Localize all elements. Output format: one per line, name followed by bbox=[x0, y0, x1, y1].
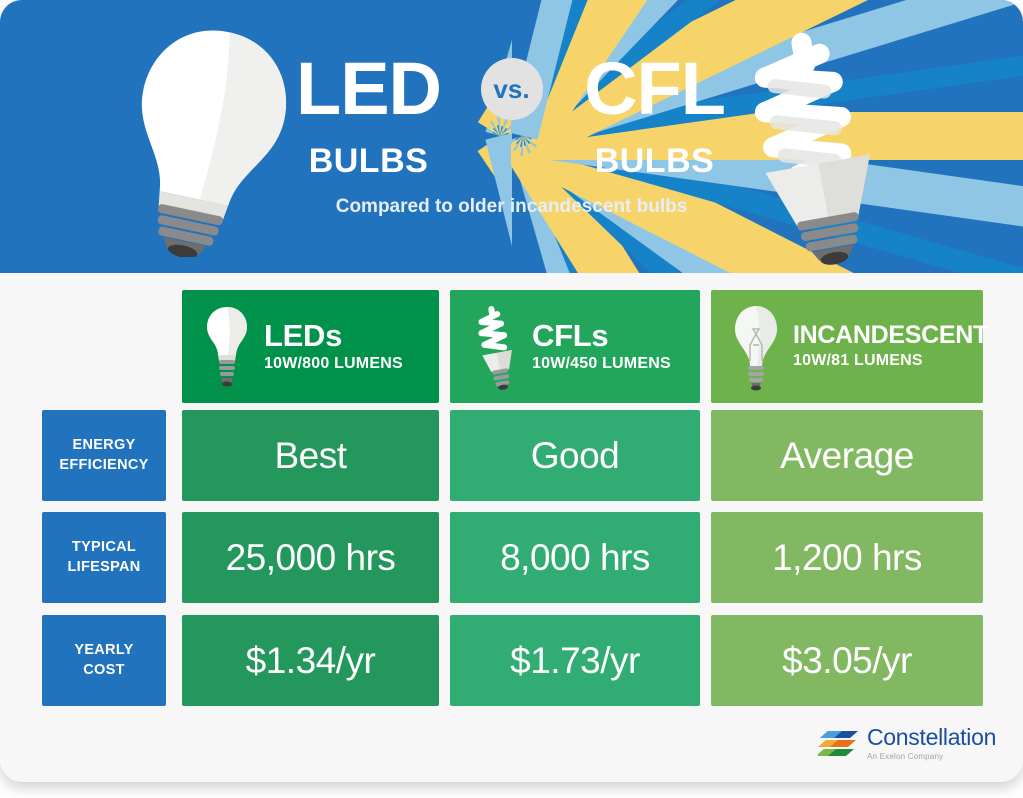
row-label-line1: TYPICAL bbox=[72, 539, 136, 555]
comparison-table: LEDs 10W/800 LUMENS bbox=[0, 273, 1023, 782]
constellation-logo-text: Constellation An Exelon Company bbox=[867, 726, 996, 761]
cell-cfl-yearly-cost: $1.73/yr bbox=[450, 615, 700, 706]
column-header-text: INCANDESCENT 10W/81 LUMENS bbox=[793, 323, 988, 370]
cell-led-yearly-cost: $1.34/yr bbox=[182, 615, 439, 706]
led-bulb-icon bbox=[196, 304, 258, 390]
cell-cfl-lifespan: 8,000 hrs bbox=[450, 512, 700, 603]
row-label-yearly-cost: YEARLYCOST bbox=[42, 615, 166, 706]
header-banner: LED vs. CFL BULBS BULBS Compared to olde… bbox=[0, 0, 1023, 273]
row-label-line2: LIFESPAN bbox=[67, 559, 140, 575]
constellation-logo-icon bbox=[818, 727, 860, 761]
column-header-leds: LEDs 10W/800 LUMENS bbox=[182, 290, 439, 403]
column-title: CFLs bbox=[532, 320, 671, 352]
constellation-logo[interactable]: Constellation An Exelon Company bbox=[818, 726, 996, 761]
header-cfl-bulb-icon bbox=[726, 12, 901, 272]
cell-led-lifespan: 25,000 hrs bbox=[182, 512, 439, 603]
column-header-incandescent: INCANDESCENT 10W/81 LUMENS bbox=[711, 290, 983, 403]
row-label-line1: ENERGY bbox=[72, 437, 135, 453]
cell-incandescent-lifespan: 1,200 hrs bbox=[711, 512, 983, 603]
column-title: LEDs bbox=[264, 320, 403, 352]
row-label-line2: COST bbox=[83, 662, 124, 678]
cfl-bulb-icon bbox=[464, 303, 526, 391]
cell-led-energy-efficiency: Best bbox=[182, 410, 439, 501]
column-title: INCANDESCENT bbox=[793, 323, 988, 349]
incandescent-bulb-icon bbox=[725, 303, 787, 391]
cell-incandescent-yearly-cost: $3.05/yr bbox=[711, 615, 983, 706]
header-led-bulb-icon bbox=[128, 22, 288, 262]
infographic-stage: LED vs. CFL BULBS BULBS Compared to olde… bbox=[0, 0, 1023, 798]
column-subtitle: 10W/800 LUMENS bbox=[264, 355, 403, 373]
row-label-line2: EFFICIENCY bbox=[59, 457, 148, 473]
cell-incandescent-energy-efficiency: Average bbox=[711, 410, 983, 501]
logo-tagline: An Exelon Company bbox=[867, 752, 996, 761]
sunburst-ray bbox=[485, 132, 512, 273]
cell-cfl-energy-efficiency: Good bbox=[450, 410, 700, 501]
row-label-typical-lifespan: TYPICALLIFESPAN bbox=[42, 512, 166, 603]
row-label-energy-efficiency: ENERGYEFFICIENCY bbox=[42, 410, 166, 501]
column-header-text: LEDs 10W/800 LUMENS bbox=[264, 320, 403, 373]
logo-name: Constellation bbox=[867, 726, 996, 749]
row-label-line1: YEARLY bbox=[74, 642, 133, 658]
column-header-text: CFLs 10W/450 LUMENS bbox=[532, 320, 671, 373]
column-header-cfls: CFLs 10W/450 LUMENS bbox=[450, 290, 700, 403]
column-subtitle: 10W/450 LUMENS bbox=[532, 355, 671, 373]
infographic-card: LED vs. CFL BULBS BULBS Compared to olde… bbox=[0, 0, 1023, 782]
column-subtitle: 10W/81 LUMENS bbox=[793, 352, 988, 370]
